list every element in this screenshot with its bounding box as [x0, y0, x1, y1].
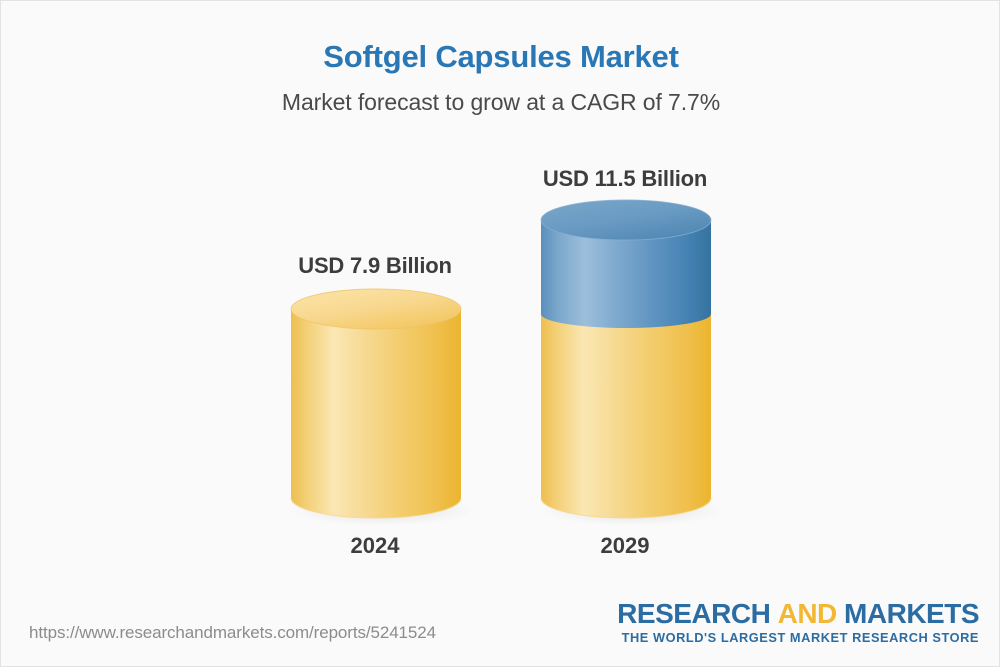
brand-and-text — [770, 598, 777, 629]
bar-2029[interactable] — [533, 194, 719, 528]
bar-body-base — [541, 314, 711, 518]
category-label-2029: 2029 — [465, 533, 785, 559]
source-url[interactable]: https://www.researchandmarkets.com/repor… — [29, 623, 436, 643]
brand-logo[interactable]: RESEARCH AND MARKETS THE WORLD'S LARGEST… — [617, 599, 979, 645]
chart-page: Softgel Capsules Market Market forecast … — [0, 0, 1000, 667]
value-label-2029: USD 11.5 Billion — [465, 166, 785, 192]
brand-markets-spacer — [837, 598, 844, 629]
plot-area: USD 7.9 Billion — [1, 1, 1000, 601]
value-label-2024: USD 7.9 Billion — [215, 253, 535, 279]
brand-tagline: THE WORLD'S LARGEST MARKET RESEARCH STOR… — [617, 630, 979, 645]
bar-body-base — [291, 309, 461, 518]
brand-research-text: RESEARCH — [617, 598, 770, 629]
brand-and-word: AND — [778, 598, 837, 629]
brand-wordmark: RESEARCH AND MARKETS — [617, 599, 979, 628]
bar-2024[interactable] — [283, 283, 469, 528]
brand-markets-text: MARKETS — [844, 598, 979, 629]
